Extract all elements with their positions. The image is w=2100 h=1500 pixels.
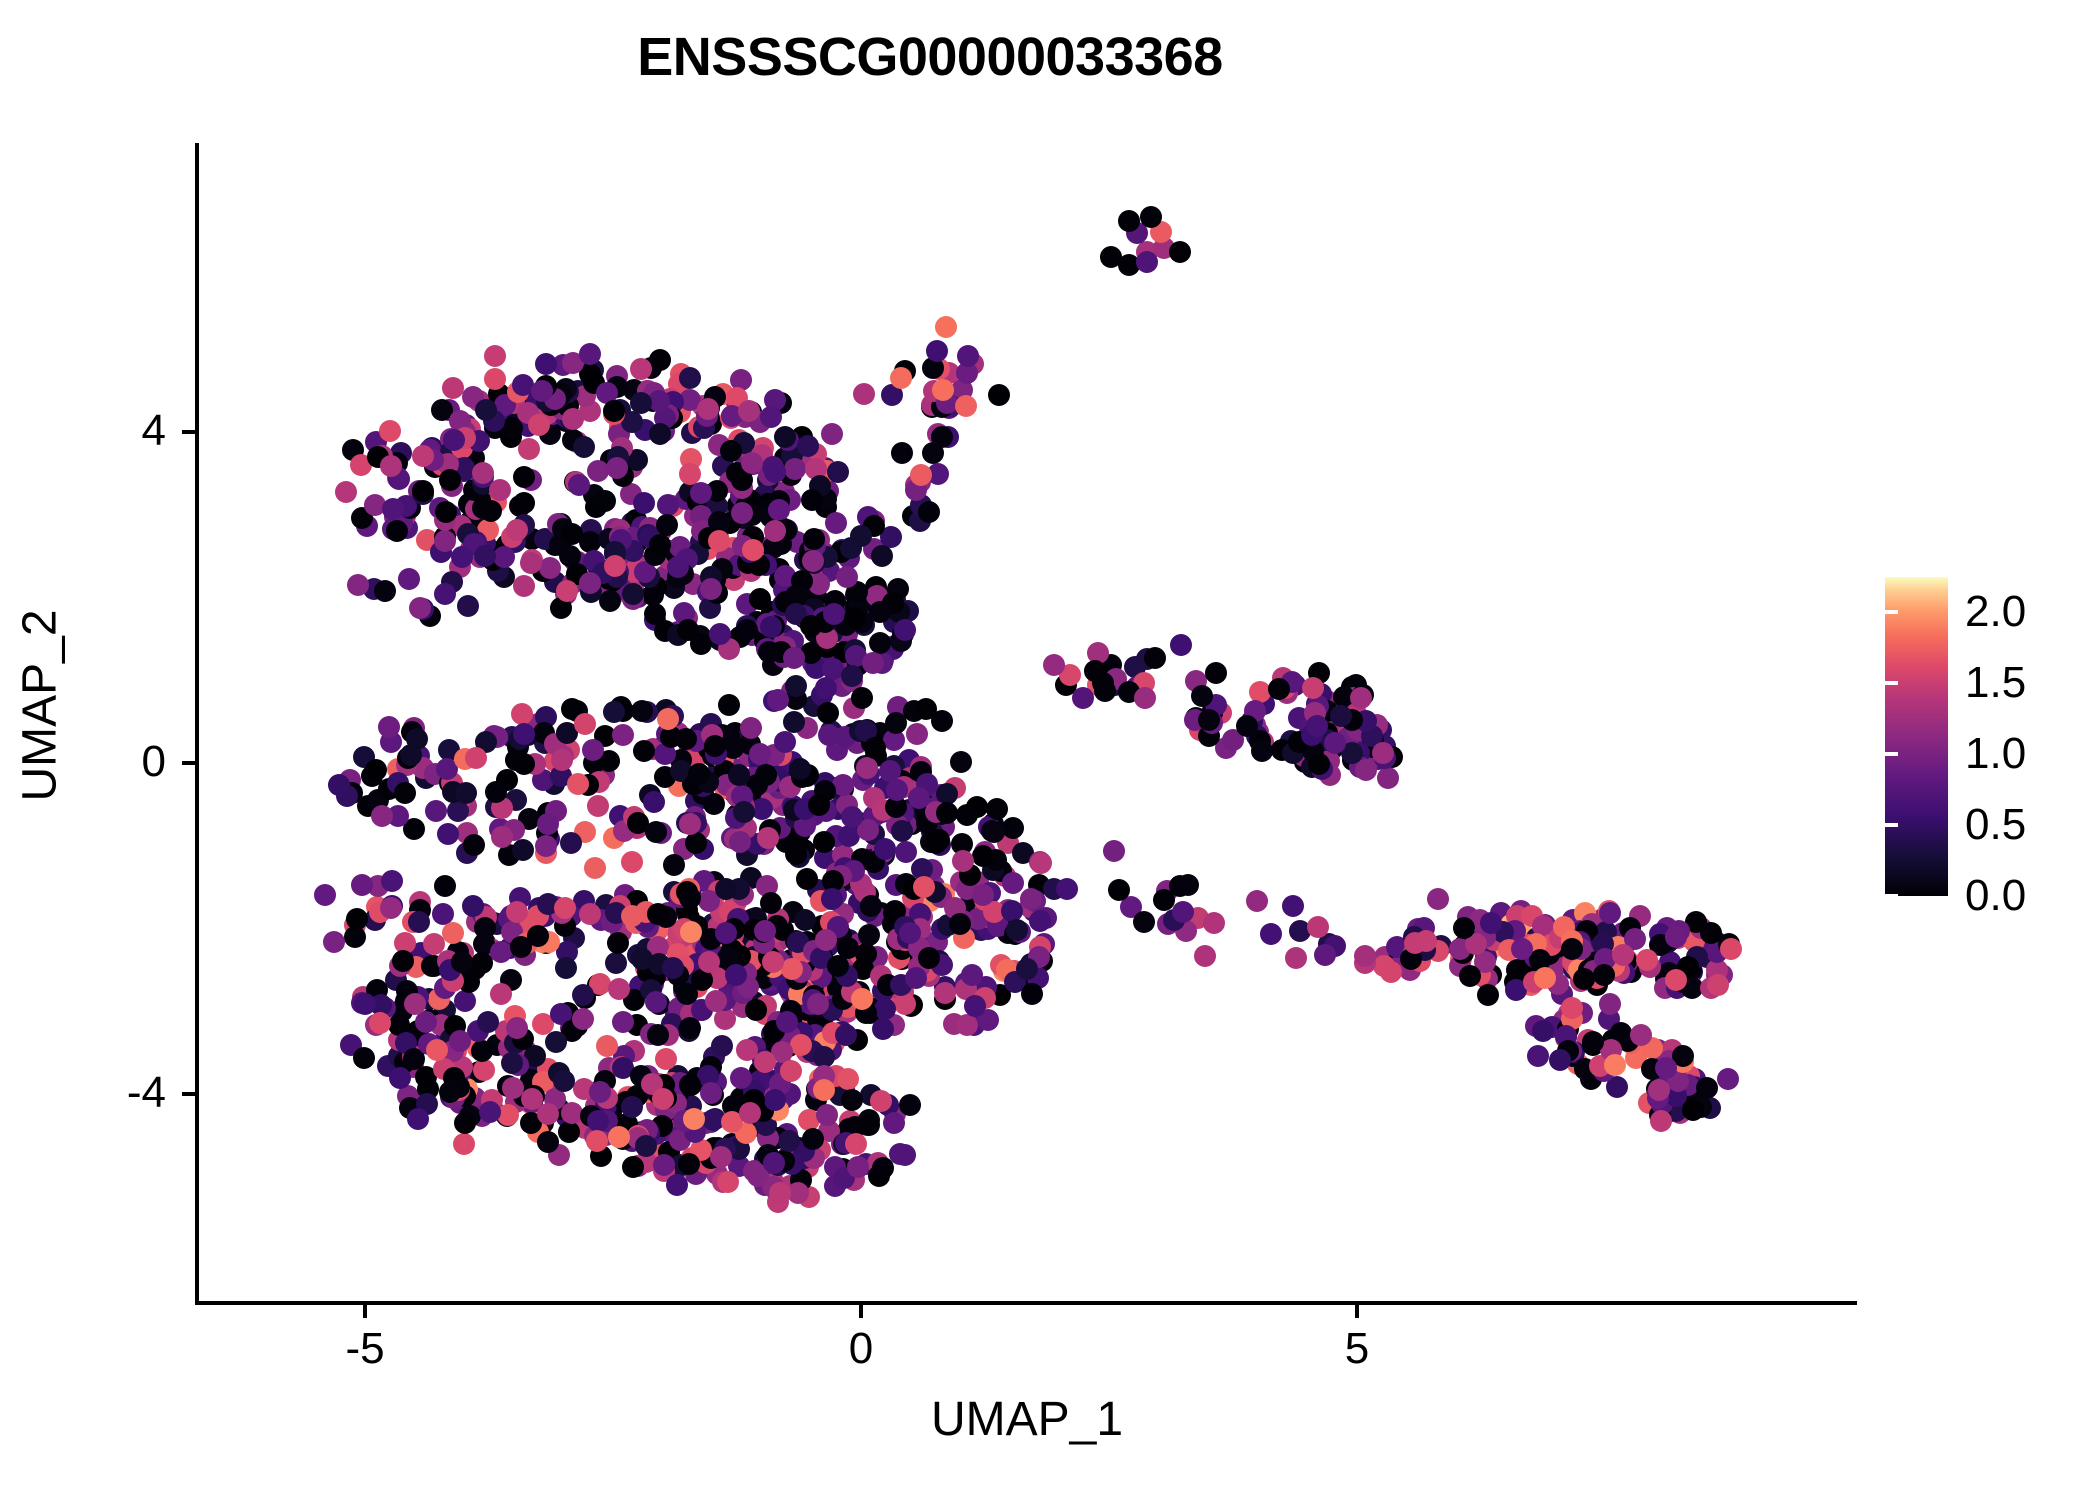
scatter-point bbox=[776, 1011, 798, 1033]
colorbar-tick-label: 2.0 bbox=[1965, 590, 2026, 634]
colorbar-tick-mark bbox=[1885, 610, 1898, 614]
scatter-point bbox=[918, 501, 940, 523]
scatter-point bbox=[472, 462, 494, 484]
scatter-point bbox=[587, 1110, 609, 1132]
scatter-point bbox=[1355, 759, 1377, 781]
scatter-point bbox=[913, 876, 935, 898]
scatter-point bbox=[883, 1112, 905, 1134]
scatter-point bbox=[1696, 1077, 1718, 1099]
scatter-point bbox=[796, 868, 818, 890]
scatter-point bbox=[579, 343, 601, 365]
scatter-point bbox=[1682, 1099, 1704, 1121]
y-tick-label: -4 bbox=[46, 1071, 166, 1115]
scatter-point bbox=[513, 466, 535, 488]
scatter-point bbox=[465, 747, 487, 769]
scatter-point bbox=[622, 583, 644, 605]
scatter-point bbox=[493, 546, 515, 568]
scatter-point bbox=[579, 572, 601, 594]
scatter-point bbox=[1103, 840, 1125, 862]
scatter-point bbox=[774, 731, 796, 753]
scatter-point bbox=[1306, 715, 1328, 737]
scatter-point bbox=[378, 716, 400, 738]
scatter-point bbox=[785, 843, 807, 865]
scatter-point bbox=[1511, 938, 1533, 960]
scatter-point bbox=[582, 739, 604, 761]
scatter-point bbox=[709, 623, 731, 645]
scatter-point bbox=[1094, 680, 1116, 702]
scatter-point bbox=[1427, 888, 1449, 910]
scatter-point bbox=[506, 1017, 528, 1039]
scatter-point bbox=[612, 1011, 634, 1033]
scatter-point bbox=[1020, 888, 1042, 910]
scatter-point bbox=[847, 1156, 869, 1178]
scatter-point bbox=[1527, 1045, 1549, 1067]
scatter-point bbox=[437, 823, 459, 845]
x-tick-label: 0 bbox=[781, 1327, 941, 1371]
scatter-point bbox=[1056, 878, 1078, 900]
scatter-point bbox=[1665, 926, 1687, 948]
scatter-point bbox=[354, 993, 376, 1015]
scatter-point bbox=[1172, 901, 1194, 923]
scatter-point bbox=[353, 1047, 375, 1069]
scatter-point bbox=[471, 1040, 493, 1062]
scatter-point bbox=[407, 1108, 429, 1130]
scatter-point bbox=[742, 539, 764, 561]
scatter-point bbox=[573, 436, 595, 458]
scatter-point bbox=[886, 779, 908, 801]
scatter-point bbox=[784, 458, 806, 480]
scatter-point bbox=[621, 851, 643, 873]
scatter-point bbox=[513, 575, 535, 597]
scatter-point bbox=[891, 442, 913, 464]
scatter-point bbox=[972, 845, 994, 867]
scatter-point bbox=[926, 340, 948, 362]
scatter-point bbox=[655, 1048, 677, 1070]
scatter-point bbox=[894, 993, 916, 1015]
scatter-point bbox=[728, 764, 750, 786]
scatter-point bbox=[607, 932, 629, 954]
scatter-point bbox=[489, 479, 511, 501]
scatter-point bbox=[760, 616, 782, 638]
scatter-point bbox=[675, 728, 697, 750]
scatter-point bbox=[1236, 715, 1258, 737]
scatter-point bbox=[1573, 968, 1595, 990]
scatter-point bbox=[554, 897, 576, 919]
scatter-point bbox=[1604, 1054, 1626, 1076]
scatter-point bbox=[604, 555, 626, 577]
scatter-point bbox=[952, 850, 974, 872]
scatter-point bbox=[502, 1077, 524, 1099]
scatter-point bbox=[698, 951, 720, 973]
scatter-point bbox=[1314, 944, 1336, 966]
scatter-point bbox=[506, 519, 528, 541]
scatter-point bbox=[528, 414, 550, 436]
scatter-point bbox=[346, 908, 368, 930]
scatter-point bbox=[711, 1035, 733, 1057]
scatter-point bbox=[813, 1079, 835, 1101]
scatter-point bbox=[818, 724, 840, 746]
scatter-point bbox=[558, 1121, 580, 1143]
scatter-point bbox=[935, 316, 957, 338]
scatter-point bbox=[1630, 1024, 1652, 1046]
scatter-point bbox=[491, 826, 513, 848]
scatter-point bbox=[956, 1014, 978, 1036]
scatter-point bbox=[631, 700, 653, 722]
scatter-point bbox=[649, 349, 671, 371]
scatter-point bbox=[584, 857, 606, 879]
scatter-point bbox=[862, 652, 884, 674]
scatter-point bbox=[961, 964, 983, 986]
scatter-point bbox=[454, 1112, 476, 1134]
scatter-point bbox=[480, 500, 502, 522]
scatter-point bbox=[774, 426, 796, 448]
scatter-point bbox=[1084, 660, 1106, 682]
scatter-point bbox=[841, 1089, 863, 1111]
scatter-point bbox=[815, 677, 837, 699]
scatter-point bbox=[885, 712, 907, 734]
scatter-point bbox=[731, 502, 753, 524]
scatter-point bbox=[490, 983, 512, 1005]
scatter-point bbox=[647, 1024, 669, 1046]
scatter-point bbox=[1707, 974, 1729, 996]
scatter-point bbox=[662, 957, 684, 979]
scatter-point bbox=[553, 1070, 575, 1092]
scatter-point bbox=[608, 978, 630, 1000]
colorbar-tick-mark bbox=[1885, 681, 1898, 685]
scatter-point bbox=[950, 751, 972, 773]
scatter-point bbox=[763, 1152, 785, 1174]
scatter-point bbox=[392, 950, 414, 972]
scatter-point bbox=[1194, 945, 1216, 967]
scatter-point bbox=[1561, 938, 1583, 960]
scatter-point bbox=[351, 874, 373, 896]
scatter-point bbox=[594, 490, 616, 512]
scatter-point bbox=[718, 694, 740, 716]
scatter-point bbox=[442, 377, 464, 399]
scatter-point bbox=[537, 813, 559, 835]
scatter-point bbox=[1002, 872, 1024, 894]
scatter-point bbox=[412, 445, 434, 467]
scatter-point bbox=[630, 358, 652, 380]
scatter-point bbox=[599, 590, 621, 612]
colorbar-tick-mark bbox=[1885, 823, 1898, 827]
scatter-point bbox=[890, 367, 912, 389]
scatter-point bbox=[704, 735, 726, 757]
scatter-point bbox=[586, 1130, 608, 1152]
scatter-point bbox=[484, 368, 506, 390]
scatter-point bbox=[596, 1035, 618, 1057]
scatter-point bbox=[657, 494, 679, 516]
color-legend[interactable]: 2.01.51.00.50.0 bbox=[1885, 577, 2085, 907]
scatter-point bbox=[949, 913, 971, 935]
scatter-point bbox=[1453, 917, 1475, 939]
scatter-point bbox=[932, 379, 954, 401]
scatter-point bbox=[374, 580, 396, 602]
scatter-point bbox=[512, 839, 534, 861]
scatter-point bbox=[736, 619, 758, 641]
scatter-point bbox=[835, 1024, 857, 1046]
scatter-point bbox=[537, 1131, 559, 1153]
scatter-point bbox=[680, 921, 702, 943]
scatter-point bbox=[1377, 767, 1399, 789]
scatter-point bbox=[872, 1018, 894, 1040]
scatter-point bbox=[679, 367, 701, 389]
scatter-point bbox=[587, 795, 609, 817]
scatter-point bbox=[1599, 902, 1621, 924]
scatter-point bbox=[453, 1133, 475, 1155]
scatter-point bbox=[551, 749, 573, 771]
scatter-point bbox=[679, 887, 701, 909]
scatter-point bbox=[347, 574, 369, 596]
colorbar-tick-label: 0.5 bbox=[1965, 803, 2026, 847]
scatter-point bbox=[605, 952, 627, 974]
scatter-point bbox=[389, 1067, 411, 1089]
scatter-plot-area[interactable] bbox=[197, 143, 1857, 1303]
scatter-point bbox=[412, 480, 434, 502]
scatter-point bbox=[513, 723, 535, 745]
scatter-point bbox=[527, 925, 549, 947]
colorbar-tick-mark bbox=[2072, 823, 2085, 827]
scatter-point bbox=[745, 999, 767, 1021]
scatter-point bbox=[645, 821, 667, 843]
scatter-point bbox=[535, 835, 557, 857]
scatter-point bbox=[371, 805, 393, 827]
scatter-point bbox=[679, 1074, 701, 1096]
scatter-point bbox=[1480, 912, 1502, 934]
scatter-point bbox=[816, 1104, 838, 1126]
scatter-point bbox=[856, 757, 878, 779]
scatter-point bbox=[802, 550, 824, 572]
scatter-point bbox=[1268, 678, 1290, 700]
scatter-point bbox=[562, 408, 584, 430]
scatter-point bbox=[1191, 685, 1213, 707]
scatter-point bbox=[589, 1081, 611, 1103]
scatter-point bbox=[797, 435, 819, 457]
scatter-point bbox=[1415, 930, 1437, 952]
scatter-point bbox=[850, 525, 872, 547]
scatter-point bbox=[736, 1039, 758, 1061]
scatter-point bbox=[685, 832, 707, 854]
scatter-point bbox=[1043, 654, 1065, 676]
scatter-point bbox=[906, 723, 928, 745]
scatter-point bbox=[314, 884, 336, 906]
scatter-point bbox=[380, 897, 402, 919]
colorbar-tick-mark bbox=[2072, 752, 2085, 756]
scatter-point bbox=[518, 438, 540, 460]
scatter-point bbox=[612, 724, 634, 746]
scatter-point bbox=[825, 512, 847, 534]
scatter-point bbox=[506, 901, 528, 923]
scatter-point bbox=[758, 641, 780, 663]
scatter-point bbox=[1177, 874, 1199, 896]
scatter-point bbox=[520, 552, 542, 574]
scatter-point bbox=[1532, 1020, 1554, 1042]
scatter-point bbox=[442, 922, 464, 944]
scatter-point bbox=[1030, 852, 1052, 874]
colorbar-tick-mark bbox=[1885, 894, 1898, 898]
scatter-point bbox=[986, 798, 1008, 820]
scatter-point bbox=[1350, 687, 1372, 709]
scatter-point bbox=[649, 423, 671, 445]
scatter-point bbox=[860, 895, 882, 917]
scatter-point bbox=[1720, 938, 1742, 960]
scatter-point bbox=[545, 1031, 567, 1053]
scatter-point bbox=[603, 400, 625, 422]
scatter-point bbox=[425, 800, 447, 822]
scatter-point bbox=[475, 399, 497, 421]
scatter-point bbox=[891, 820, 913, 842]
scatter-point bbox=[700, 578, 722, 600]
scatter-point bbox=[1582, 1031, 1604, 1053]
scatter-point bbox=[836, 566, 858, 588]
y-tick-mark bbox=[182, 430, 195, 434]
scatter-point bbox=[1354, 945, 1376, 967]
scatter-point bbox=[931, 426, 953, 448]
scatter-point bbox=[1205, 662, 1227, 684]
scatter-point bbox=[683, 1108, 705, 1130]
scatter-point bbox=[1650, 1110, 1672, 1132]
scatter-point bbox=[740, 717, 762, 739]
scatter-point bbox=[490, 941, 512, 963]
y-tick-mark bbox=[182, 761, 195, 765]
y-tick-label: 4 bbox=[46, 409, 166, 453]
scatter-point bbox=[657, 708, 679, 730]
scatter-point bbox=[474, 545, 496, 567]
scatter-point bbox=[1648, 1079, 1670, 1101]
scatter-point bbox=[457, 595, 479, 617]
scatter-point bbox=[484, 345, 506, 367]
scatter-point bbox=[1285, 947, 1307, 969]
scatter-point bbox=[379, 420, 401, 442]
y-axis-title: UMAP_2 bbox=[13, 496, 68, 916]
scatter-point bbox=[335, 481, 357, 503]
scatter-point bbox=[485, 781, 507, 803]
scatter-point bbox=[1477, 984, 1499, 1006]
scatter-point bbox=[767, 689, 789, 711]
scatter-point bbox=[1169, 241, 1191, 263]
scatter-point bbox=[690, 482, 712, 504]
scatter-point bbox=[1144, 647, 1166, 669]
scatter-point bbox=[555, 957, 577, 979]
scatter-point bbox=[497, 1104, 519, 1126]
scatter-point bbox=[621, 905, 643, 927]
colorbar-tick-mark bbox=[1885, 752, 1898, 756]
scatter-point bbox=[899, 922, 921, 944]
scatter-point bbox=[449, 1030, 471, 1052]
umap-feature-plot: ENSSSCG00000033368 40-4 -505 UMAP_1 UMAP… bbox=[0, 0, 2100, 1500]
scatter-point bbox=[435, 501, 457, 523]
scatter-point bbox=[633, 492, 655, 514]
scatter-point bbox=[781, 958, 803, 980]
x-tick-mark bbox=[363, 1305, 367, 1318]
scatter-point bbox=[871, 545, 893, 567]
scatter-point bbox=[656, 514, 678, 536]
scatter-point bbox=[1002, 817, 1024, 839]
scatter-point bbox=[841, 665, 863, 687]
scatter-point bbox=[823, 603, 845, 625]
scatter-point bbox=[988, 384, 1010, 406]
scatter-point bbox=[667, 556, 689, 578]
scatter-point bbox=[717, 1171, 739, 1193]
scatter-point bbox=[1308, 753, 1330, 775]
scatter-point bbox=[394, 782, 416, 804]
colorbar-tick-mark bbox=[2072, 894, 2085, 898]
scatter-point bbox=[328, 774, 350, 796]
scatter-point bbox=[1140, 206, 1162, 228]
scatter-point bbox=[513, 753, 535, 775]
scatter-point bbox=[780, 1060, 802, 1082]
scatter-point bbox=[851, 687, 873, 709]
scatter-point bbox=[715, 878, 737, 900]
scatter-point bbox=[477, 1011, 499, 1033]
scatter-point bbox=[899, 1094, 921, 1116]
scatter-point bbox=[874, 998, 896, 1020]
x-tick-mark bbox=[1355, 1305, 1359, 1318]
scatter-point bbox=[894, 1144, 916, 1166]
scatter-point bbox=[769, 1182, 791, 1204]
scatter-point bbox=[567, 773, 589, 795]
scatter-point bbox=[644, 603, 666, 625]
y-tick-mark bbox=[182, 1092, 195, 1096]
scatter-point bbox=[608, 1126, 630, 1148]
scatter-point bbox=[398, 568, 420, 590]
scatter-point bbox=[511, 703, 533, 725]
scatter-point bbox=[1260, 923, 1282, 945]
scatter-point bbox=[439, 469, 461, 491]
scatter-point bbox=[1534, 967, 1556, 989]
scatter-point bbox=[649, 534, 671, 556]
scatter-point bbox=[956, 804, 978, 826]
scatter-point bbox=[778, 1130, 800, 1152]
scatter-point bbox=[705, 990, 727, 1012]
scatter-point bbox=[1251, 740, 1273, 762]
scatter-point bbox=[426, 1039, 448, 1061]
scatter-point bbox=[381, 870, 403, 892]
page-title: ENSSSCG00000033368 bbox=[0, 26, 1860, 88]
scatter-point bbox=[323, 931, 345, 953]
scatter-point bbox=[908, 787, 930, 809]
scatter-point bbox=[386, 520, 408, 542]
scatter-point bbox=[568, 474, 590, 496]
scatter-point bbox=[858, 1114, 880, 1136]
scatter-point bbox=[501, 1052, 523, 1074]
colorbar-gradient bbox=[1885, 577, 1948, 896]
scatter-point bbox=[1118, 210, 1140, 232]
scatter-point bbox=[874, 838, 896, 860]
scatter-point bbox=[1029, 910, 1051, 932]
scatter-point bbox=[434, 875, 456, 897]
scatter-point bbox=[1021, 983, 1043, 1005]
colorbar-tick-label: 0.0 bbox=[1965, 874, 2026, 918]
scatter-point bbox=[1593, 964, 1615, 986]
scatter-point bbox=[1134, 687, 1156, 709]
scatter-point bbox=[572, 984, 594, 1006]
scatter-point bbox=[755, 764, 777, 786]
scatter-point bbox=[837, 1068, 859, 1090]
scatter-point bbox=[561, 523, 583, 545]
scatter-point bbox=[955, 395, 977, 417]
scatter-point bbox=[663, 854, 685, 876]
scatter-point bbox=[1072, 687, 1094, 709]
scatter-point bbox=[1330, 705, 1352, 727]
scatter-point bbox=[621, 1096, 643, 1118]
scatter-point bbox=[1380, 961, 1402, 983]
colorbar-tick-mark bbox=[2072, 610, 2085, 614]
scatter-point bbox=[579, 903, 601, 925]
scatter-point bbox=[813, 831, 835, 853]
scatter-point bbox=[1459, 965, 1481, 987]
x-tick-label: -5 bbox=[285, 1327, 445, 1371]
